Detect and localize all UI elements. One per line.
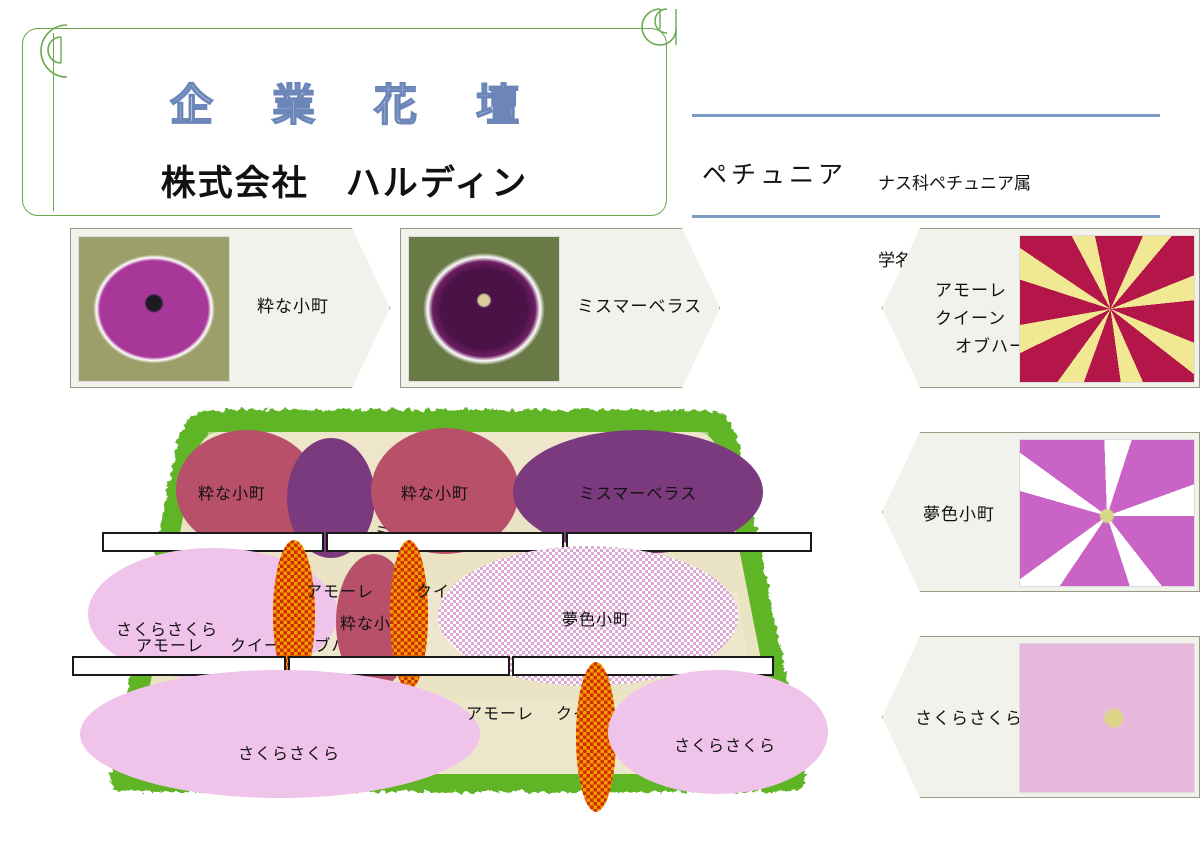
card-amore-queen-of-hearts[interactable]: アモーレ クイーン オブハート xyxy=(882,228,1200,388)
plot-label: 夢色小町 xyxy=(562,606,630,630)
plot-sakura-sakura-r3-left[interactable]: さくらさくら xyxy=(80,670,480,798)
garden-bed-diagram: 粋な小町 ミスマーベラス 粋な小町 ミスマーベラス さくらさくら アモーレ クイ… xyxy=(58,382,858,812)
plot-label-amore-r2-left: アモーレ xyxy=(136,632,204,656)
plot-sakura-sakura-r3-right[interactable]: さくらさくら xyxy=(608,670,828,794)
path-strip-upper-2 xyxy=(326,532,564,552)
petunia-miss-marvelous-photo xyxy=(408,236,560,382)
page-title: 企 業 花 壇 xyxy=(23,71,666,133)
plot-label-amore-r3: アモーレ xyxy=(466,700,534,724)
card-label: 粋な小町 xyxy=(257,295,329,321)
petunia-iki-na-komachi-photo xyxy=(78,236,230,382)
plot-label: 粋な小町 xyxy=(198,480,266,504)
card-label-line1: 夢色小町 xyxy=(923,503,995,529)
card-sakura-sakura[interactable]: さくらさくら xyxy=(882,636,1200,798)
card-label-line1: さくらさくら xyxy=(915,707,1023,733)
company-name: 株式会社 ハルディン xyxy=(23,155,666,206)
petunia-yumeiro-komachi-photo xyxy=(1019,439,1195,587)
bed-plot-layer: 粋な小町 ミスマーベラス 粋な小町 ミスマーベラス さくらさくら アモーレ クイ… xyxy=(58,382,858,812)
plot-label: ミスマーベラス xyxy=(579,480,697,504)
card-label-line1: アモーレ xyxy=(935,279,1007,305)
poster-canvas: 企 業 花 壇 株式会社 ハルディン ペチュニア ナス科ペチュニア属 学名 Pe… xyxy=(0,0,1200,848)
petunia-amore-queen-of-hearts-photo xyxy=(1019,235,1195,383)
card-label-line2: クイーン xyxy=(935,307,1006,333)
card-label: ミスマーベラス xyxy=(577,295,702,321)
species-common-name: ペチュニア xyxy=(702,155,847,191)
card-yumeiro-komachi[interactable]: 夢色小町 xyxy=(882,432,1200,592)
card-miss-marvelous[interactable]: ミスマーベラス xyxy=(400,228,720,388)
plot-label: さくらさくら xyxy=(238,740,340,764)
species-header: ペチュニア ナス科ペチュニア属 学名 Petunia/ Petunia Lila… xyxy=(692,114,1160,218)
scroll-curl-right-icon xyxy=(640,5,710,65)
plot-label: 粋な小町 xyxy=(401,480,469,504)
species-family-genus: ナス科ペチュニア属 xyxy=(878,172,1127,198)
petunia-sakura-sakura-photo xyxy=(1019,643,1195,793)
card-iki-na-komachi[interactable]: 粋な小町 xyxy=(70,228,390,388)
plot-label-amore-r2-mid: アモーレ xyxy=(306,578,374,602)
title-scroll-banner: 企 業 花 壇 株式会社 ハルディン xyxy=(22,28,667,216)
plot-label: さくらさくら xyxy=(674,732,776,756)
